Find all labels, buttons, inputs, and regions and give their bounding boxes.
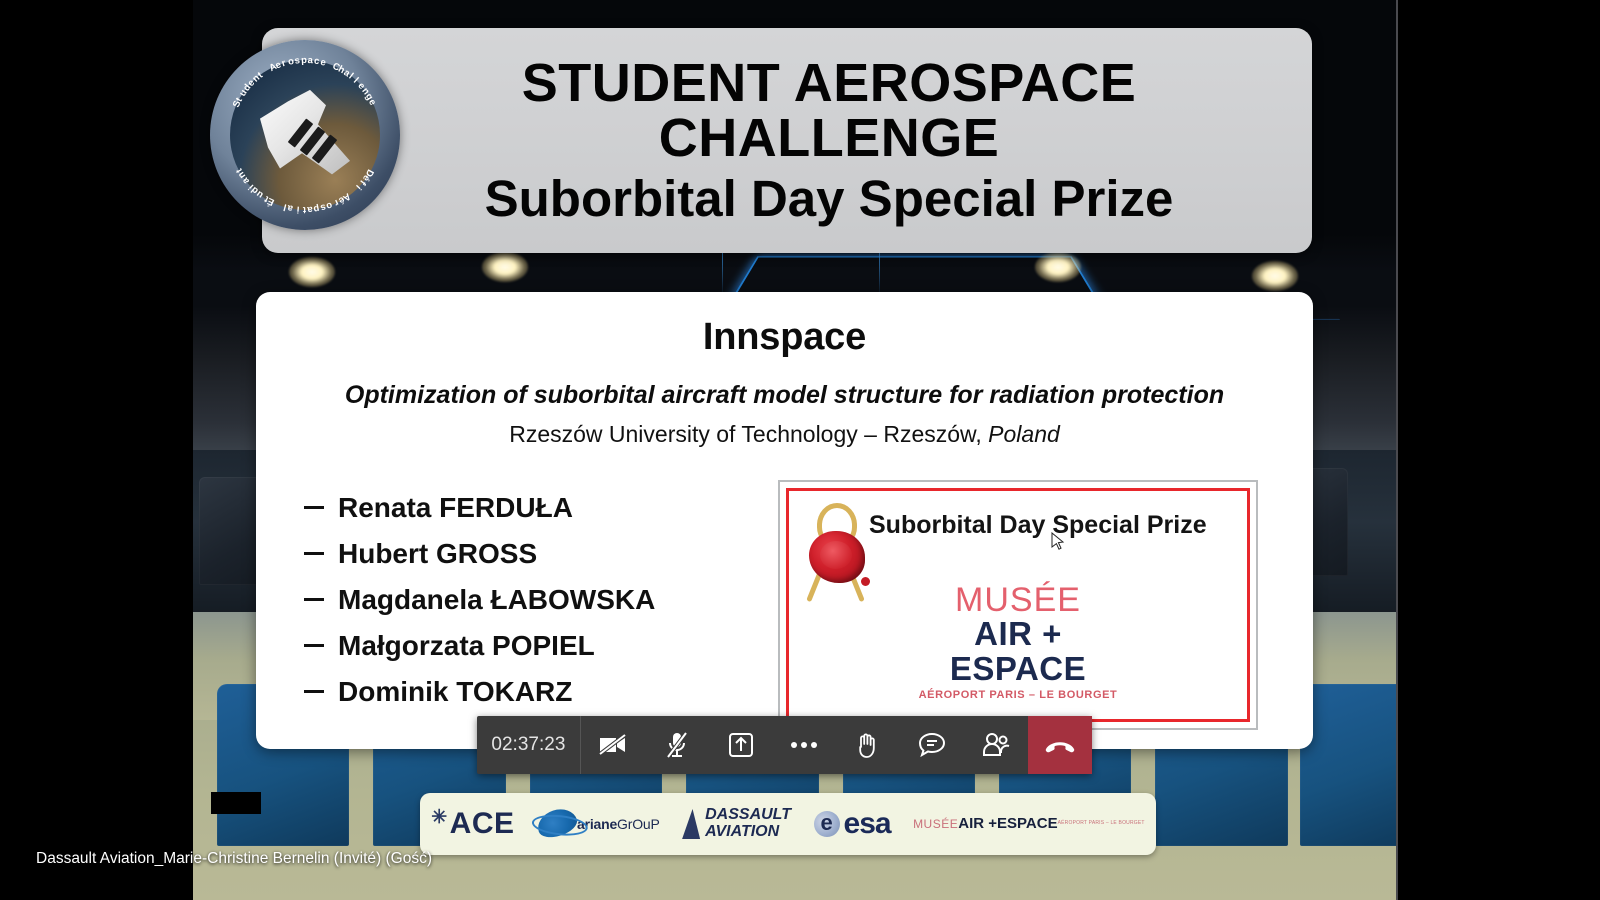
esa-label: esa	[844, 807, 891, 841]
participant-rail: DB Dassault Aviation_Marie-C...	[1399, 0, 1600, 900]
logo-espace-text: ESPACE	[919, 652, 1118, 685]
bullet-dash-icon	[304, 506, 324, 509]
seat	[1300, 684, 1396, 846]
team-member-row: Magdanela ŁABOWSKA	[304, 584, 774, 616]
musee-air-espace-logo: MUSÉE AIR + ESPACE AÉROPORT PARIS – LE B…	[919, 583, 1118, 701]
banner-line-2: CHALLENGE	[370, 111, 1288, 166]
event-banner: Student Aerospace ChallengeDéfi Aérospat…	[262, 28, 1312, 253]
presentation-slide[interactable]: Innspace Optimization of suborbital airc…	[256, 292, 1313, 749]
sponsor-esa-logo: esa	[814, 807, 891, 841]
camera-off-icon[interactable]	[581, 716, 645, 774]
spotlight-4	[1252, 261, 1298, 291]
ace-label: ACE	[450, 807, 515, 841]
participants-icon[interactable]	[964, 716, 1028, 774]
esa-globe-icon	[814, 811, 840, 837]
university-name: Rzeszów University of Technology – Rzesz…	[509, 421, 988, 447]
hangup-button[interactable]	[1028, 716, 1092, 774]
chat-icon[interactable]	[900, 716, 964, 774]
sponsor-aeroport-text: AÉROPORT PARIS – LE BOURGET	[1058, 821, 1145, 826]
mouse-cursor	[1051, 532, 1065, 552]
dassault-wing-icon	[682, 809, 700, 839]
sponsor-musee-text: MUSÉE	[913, 818, 958, 830]
ariane-label-light: GrOuP	[617, 816, 660, 832]
banner-line-1: STUDENT AEROSPACE	[370, 56, 1288, 111]
sponsor-arianegroup-logo: arianeGrOuP	[537, 810, 660, 838]
meeting-window: Student Aerospace ChallengeDéfi Aérospat…	[0, 0, 1600, 900]
raise-hand-icon[interactable]	[836, 716, 900, 774]
call-timer: 02:37:23	[477, 716, 581, 774]
logo-musee-text: MUSÉE	[919, 583, 1118, 617]
meeting-toolbar: 02:37:23	[477, 716, 1092, 774]
banner-title: STUDENT AEROSPACE CHALLENGE Suborbital D…	[262, 56, 1312, 224]
logo-air-text: AIR +	[919, 617, 1118, 652]
team-member-list: Renata FERDUŁAHubert GROSSMagdanela ŁABO…	[304, 492, 774, 722]
sac-logo-ring-text: Student Aerospace ChallengeDéfi Aérospat…	[210, 40, 400, 230]
banner-line-3: Suborbital Day Special Prize	[370, 173, 1288, 225]
ariane-orbit-icon	[534, 804, 580, 841]
team-member-row: Dominik TOKARZ	[304, 676, 774, 708]
sponsor-dassault-logo: DASSAULT AVIATION	[682, 807, 791, 841]
team-name: Innspace	[256, 316, 1313, 359]
wax-seal-icon	[799, 503, 873, 609]
team-member-row: Hubert GROSS	[304, 538, 774, 570]
sac-logo: Student Aerospace ChallengeDéfi Aérospat…	[210, 40, 400, 230]
spotlight-3	[1035, 252, 1081, 282]
bullet-dash-icon	[304, 644, 324, 647]
sponsor-strip: ✳ACE arianeGrOuP DASSAULT AVIATION esa M…	[420, 793, 1156, 855]
spotlight-2	[482, 252, 528, 282]
bullet-dash-icon	[304, 598, 324, 601]
university-country: Poland	[988, 421, 1060, 447]
ace-star-icon: ✳	[431, 806, 447, 829]
more-options-icon[interactable]	[773, 716, 837, 774]
rail-divider[interactable]	[1396, 0, 1398, 900]
team-member-name: Małgorzata POPIEL	[338, 630, 595, 662]
university-line: Rzeszów University of Technology – Rzesz…	[256, 421, 1313, 448]
share-screen-icon[interactable]	[709, 716, 773, 774]
team-member-name: Hubert GROSS	[338, 538, 537, 570]
bullet-dash-icon	[304, 690, 324, 693]
logo-aeroport-text: AÉROPORT PARIS – LE BOURGET	[919, 689, 1118, 701]
screen-occluder	[211, 792, 261, 814]
microphone-muted-icon[interactable]	[645, 716, 709, 774]
spotlight-1	[289, 257, 335, 287]
sponsor-espace-text: ESPACE	[997, 816, 1058, 831]
team-member-row: Małgorzata POPIEL	[304, 630, 774, 662]
prize-callout: Suborbital Day Special Prize MUSÉE AIR +…	[778, 480, 1258, 730]
shared-screen-stage[interactable]: Student Aerospace ChallengeDéfi Aérospat…	[0, 0, 1396, 900]
team-member-name: Renata FERDUŁA	[338, 492, 573, 524]
team-member-name: Magdanela ŁABOWSKA	[338, 584, 655, 616]
sponsor-air-text: AIR +	[958, 816, 997, 831]
team-member-name: Dominik TOKARZ	[338, 676, 572, 708]
sponsor-musee-air-espace-logo: MUSÉE AIR + ESPACE AÉROPORT PARIS – LE B…	[913, 816, 1145, 831]
bullet-dash-icon	[304, 552, 324, 555]
dassault-line-2: AVIATION	[705, 824, 791, 841]
prize-callout-border: Suborbital Day Special Prize MUSÉE AIR +…	[786, 488, 1250, 722]
sponsor-ace-logo: ✳ACE	[431, 807, 514, 841]
team-member-row: Renata FERDUŁA	[304, 492, 774, 524]
project-subtitle: Optimization of suborbital aircraft mode…	[256, 381, 1313, 410]
stage-participant-label: Dassault Aviation_Marie-Christine Bernel…	[36, 850, 432, 868]
dassault-line-1: DASSAULT	[705, 807, 791, 824]
